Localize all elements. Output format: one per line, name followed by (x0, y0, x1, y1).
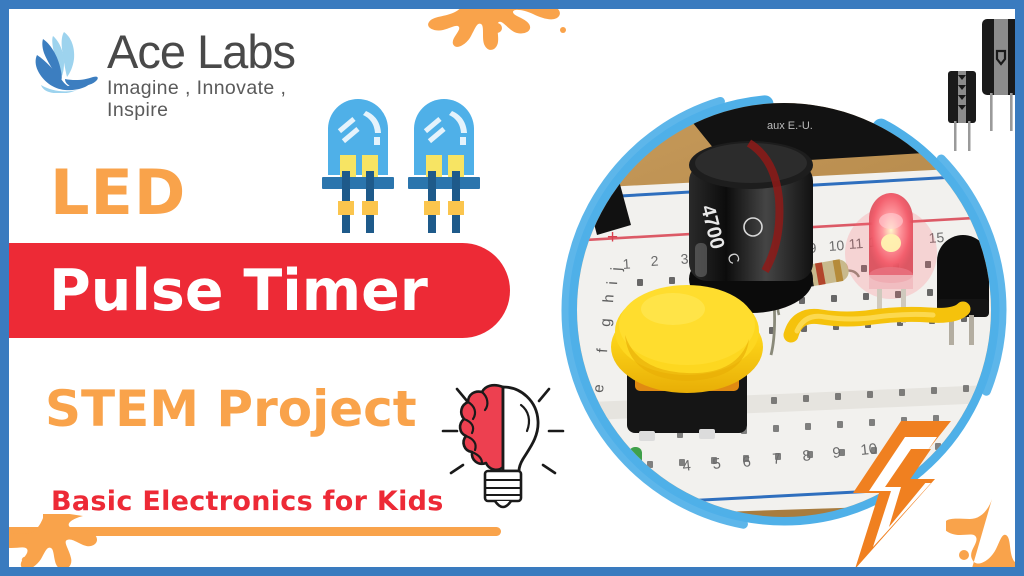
svg-text:aux E.-U.: aux E.-U. (767, 120, 813, 132)
flying-bird-logo-icon (31, 29, 103, 93)
brand-logo-text: Ace Labs Imagine , Innovate , Inspire (107, 27, 337, 121)
headline-stem-project: STEM Project (45, 381, 417, 437)
svg-text:6: 6 (742, 453, 752, 471)
brand-tagline: Imagine , Innovate , Inspire (107, 77, 337, 121)
led-pair-illustration-icon (304, 93, 484, 243)
svg-text:g: g (597, 318, 615, 328)
splatter-top-icon (413, 9, 583, 76)
splatter-bottom-left-icon (9, 514, 153, 567)
headline-led: LED (50, 161, 186, 225)
svg-text:10: 10 (828, 237, 845, 254)
svg-text:8: 8 (802, 447, 812, 465)
svg-text:e: e (590, 384, 608, 394)
brand-name: Ace Labs (107, 27, 337, 77)
poster-frame: Ace Labs Imagine , Innovate , Inspire (0, 0, 1024, 576)
splatter-bottom-right-icon (946, 479, 1015, 567)
svg-text:4: 4 (682, 457, 692, 475)
svg-text:7: 7 (772, 450, 782, 468)
brand-logo: Ace Labs Imagine , Innovate , Inspire (31, 23, 331, 109)
svg-text:h: h (600, 294, 618, 304)
headline-pulse-timer: Pulse Timer (49, 255, 519, 329)
svg-text:2: 2 (650, 252, 659, 269)
brain-lightbulb-icon (441, 375, 565, 521)
svg-text:3: 3 (680, 250, 689, 267)
poster-canvas: Ace Labs Imagine , Innovate , Inspire (9, 9, 1015, 567)
svg-text:5: 5 (712, 455, 722, 473)
